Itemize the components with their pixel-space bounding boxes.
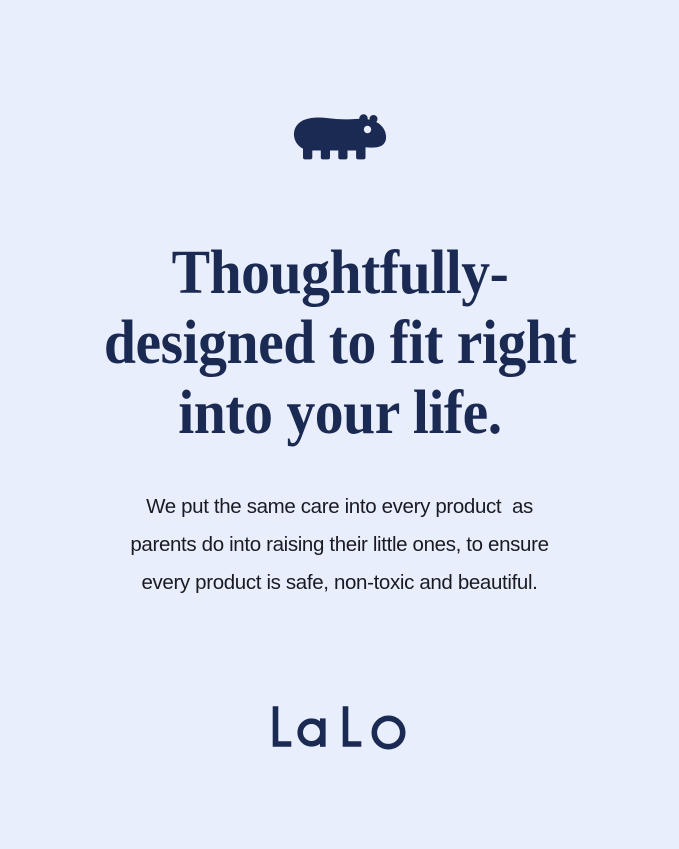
lalo-wordmark-icon <box>270 706 410 750</box>
body-line-1: We put the same care into every product … <box>80 488 600 526</box>
brand-card: Thoughtfully- designed to fit right into… <box>0 0 679 849</box>
body-line-2: parents do into raising their little one… <box>80 526 600 564</box>
headline-line-3: into your life. <box>79 378 600 448</box>
headline: Thoughtfully- designed to fit right into… <box>79 238 600 448</box>
headline-line-2: designed to fit right <box>79 308 600 378</box>
headline-line-1: Thoughtfully- <box>79 238 600 308</box>
body-line-3: every product is safe, non-toxic and bea… <box>80 564 600 602</box>
hippo-icon <box>293 112 387 164</box>
brand-wordmark: LALO <box>0 706 679 750</box>
body-copy: We put the same care into every product … <box>80 488 600 602</box>
